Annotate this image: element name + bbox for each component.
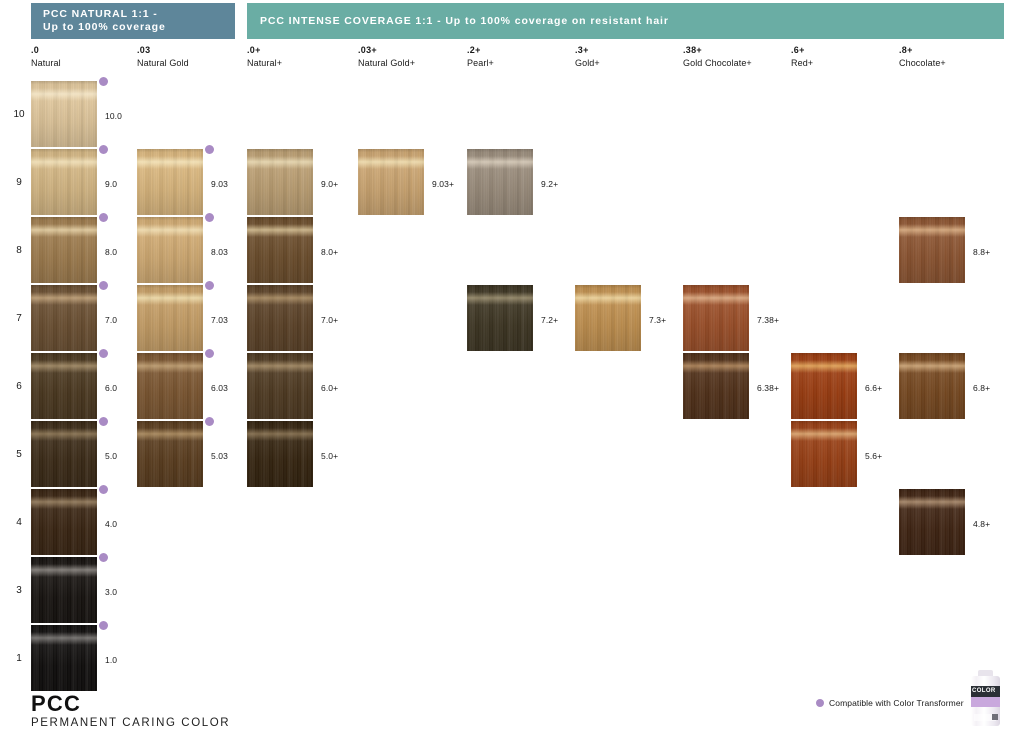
swatch-label: 6.0+ bbox=[321, 383, 338, 393]
swatch-vertical-shading bbox=[247, 217, 313, 283]
swatch-vertical-shading bbox=[247, 285, 313, 351]
swatch-label: 7.2+ bbox=[541, 315, 558, 325]
hair-swatch-8-8-[interactable] bbox=[899, 217, 965, 283]
column-name: Red+ bbox=[791, 57, 813, 69]
column-name: Pearl+ bbox=[467, 57, 494, 69]
swatch-label: 7.38+ bbox=[757, 315, 779, 325]
swatch-label: 7.0 bbox=[105, 315, 117, 325]
column-header-03: .03+Natural Gold+ bbox=[358, 45, 415, 69]
swatch-vertical-shading bbox=[137, 149, 203, 215]
legend-color-transformer: Compatible with Color Transformer bbox=[816, 698, 964, 708]
hair-swatch-7-2-[interactable] bbox=[467, 285, 533, 351]
swatch-label: 8.03 bbox=[211, 247, 228, 257]
swatch-vertical-shading bbox=[31, 489, 97, 555]
swatch-label: 9.0+ bbox=[321, 179, 338, 189]
swatch-label: 7.0+ bbox=[321, 315, 338, 325]
swatch-vertical-shading bbox=[467, 149, 533, 215]
bottle-barcode-square bbox=[992, 714, 998, 720]
swatch-vertical-shading bbox=[683, 285, 749, 351]
column-name: Gold+ bbox=[575, 57, 600, 69]
column-code: .3+ bbox=[575, 45, 600, 56]
color-transformer-dot-icon bbox=[205, 417, 214, 426]
legend-dot-icon bbox=[816, 699, 824, 707]
color-transformer-dot-icon bbox=[99, 485, 108, 494]
swatch-label: 5.6+ bbox=[865, 451, 882, 461]
swatch-vertical-shading bbox=[467, 285, 533, 351]
section-header-natural-title: PCC NATURAL 1:1 - Up to 100% coverage bbox=[43, 8, 166, 34]
swatch-label: 6.8+ bbox=[973, 383, 990, 393]
brand-fullname: PERMANENT CARING COLOR bbox=[31, 716, 230, 730]
swatch-label: 9.03 bbox=[211, 179, 228, 189]
row-level-1: 1 bbox=[10, 653, 28, 664]
column-name: Natural+ bbox=[247, 57, 282, 69]
swatch-label: 4.0 bbox=[105, 519, 117, 529]
swatch-vertical-shading bbox=[137, 353, 203, 419]
swatch-vertical-shading bbox=[683, 353, 749, 419]
column-name: Chocolate+ bbox=[899, 57, 946, 69]
hair-swatch-9-0-[interactable] bbox=[247, 149, 313, 215]
swatch-vertical-shading bbox=[247, 149, 313, 215]
column-name: Natural bbox=[31, 57, 61, 69]
hair-swatch-8-03[interactable] bbox=[137, 217, 203, 283]
hair-swatch-1-0[interactable] bbox=[31, 625, 97, 691]
hair-swatch-6-03[interactable] bbox=[137, 353, 203, 419]
color-transformer-dot-icon bbox=[99, 553, 108, 562]
swatch-label: 6.03 bbox=[211, 383, 228, 393]
swatch-label: 9.0 bbox=[105, 179, 117, 189]
swatch-label: 7.3+ bbox=[649, 315, 666, 325]
column-code: .8+ bbox=[899, 45, 946, 56]
swatch-vertical-shading bbox=[31, 217, 97, 283]
swatch-vertical-shading bbox=[899, 353, 965, 419]
column-header-0: .0Natural bbox=[31, 45, 61, 69]
color-transformer-dot-icon bbox=[205, 145, 214, 154]
hair-swatch-5-0[interactable] bbox=[31, 421, 97, 487]
swatch-vertical-shading bbox=[791, 421, 857, 487]
color-transformer-dot-icon bbox=[99, 281, 108, 290]
section-header-intense-title: PCC INTENSE COVERAGE 1:1 - Up to 100% co… bbox=[260, 15, 669, 28]
swatch-label: 3.0 bbox=[105, 587, 117, 597]
swatch-vertical-shading bbox=[31, 149, 97, 215]
hair-swatch-7-03[interactable] bbox=[137, 285, 203, 351]
hair-swatch-5-03[interactable] bbox=[137, 421, 203, 487]
hair-swatch-7-0-[interactable] bbox=[247, 285, 313, 351]
swatch-vertical-shading bbox=[31, 285, 97, 351]
swatch-vertical-shading bbox=[31, 353, 97, 419]
hair-swatch-7-3-[interactable] bbox=[575, 285, 641, 351]
hair-swatch-4-0[interactable] bbox=[31, 489, 97, 555]
row-level-10: 10 bbox=[10, 109, 28, 120]
swatch-label: 9.2+ bbox=[541, 179, 558, 189]
column-name: Gold Chocolate+ bbox=[683, 57, 752, 69]
color-transformer-dot-icon bbox=[99, 213, 108, 222]
hair-swatch-6-0-[interactable] bbox=[247, 353, 313, 419]
hair-swatch-3-0[interactable] bbox=[31, 557, 97, 623]
swatch-vertical-shading bbox=[791, 353, 857, 419]
row-level-3: 3 bbox=[10, 585, 28, 596]
swatch-vertical-shading bbox=[31, 421, 97, 487]
swatch-label: 10.0 bbox=[105, 111, 122, 121]
swatch-vertical-shading bbox=[899, 217, 965, 283]
color-transformer-dot-icon bbox=[99, 417, 108, 426]
column-header-0: .0+Natural+ bbox=[247, 45, 282, 69]
swatch-vertical-shading bbox=[358, 149, 424, 215]
column-name: Natural Gold+ bbox=[358, 57, 415, 69]
hair-swatch-7-0[interactable] bbox=[31, 285, 97, 351]
column-code: .03 bbox=[137, 45, 189, 56]
row-level-7: 7 bbox=[10, 313, 28, 324]
swatch-label: 8.0 bbox=[105, 247, 117, 257]
hair-swatch-9-03-[interactable] bbox=[358, 149, 424, 215]
color-transformer-dot-icon bbox=[99, 77, 108, 86]
swatch-vertical-shading bbox=[31, 557, 97, 623]
swatch-label: 8.0+ bbox=[321, 247, 338, 257]
column-header-8: .8+Chocolate+ bbox=[899, 45, 946, 69]
hair-swatch-9-03[interactable] bbox=[137, 149, 203, 215]
color-transformer-dot-icon bbox=[205, 213, 214, 222]
swatch-label: 6.0 bbox=[105, 383, 117, 393]
column-code: .38+ bbox=[683, 45, 752, 56]
column-header-3: .3+Gold+ bbox=[575, 45, 600, 69]
hair-swatch-6-6-[interactable] bbox=[791, 353, 857, 419]
color-transformer-dot-icon bbox=[99, 349, 108, 358]
swatch-vertical-shading bbox=[31, 81, 97, 147]
column-code: .03+ bbox=[358, 45, 415, 56]
legend-label: Compatible with Color Transformer bbox=[829, 698, 964, 708]
swatch-label: 6.38+ bbox=[757, 383, 779, 393]
swatch-vertical-shading bbox=[247, 353, 313, 419]
hair-swatch-8-0[interactable] bbox=[31, 217, 97, 283]
row-level-6: 6 bbox=[10, 381, 28, 392]
swatch-label: 5.0 bbox=[105, 451, 117, 461]
column-code: .2+ bbox=[467, 45, 494, 56]
column-code: .6+ bbox=[791, 45, 813, 56]
hair-swatch-5-6-[interactable] bbox=[791, 421, 857, 487]
column-code: .0+ bbox=[247, 45, 282, 56]
swatch-vertical-shading bbox=[575, 285, 641, 351]
hair-swatch-4-8-[interactable] bbox=[899, 489, 965, 555]
bottle-label-purple bbox=[971, 697, 1000, 707]
swatch-vertical-shading bbox=[137, 285, 203, 351]
swatch-label: 5.0+ bbox=[321, 451, 338, 461]
hair-swatch-8-0-[interactable] bbox=[247, 217, 313, 283]
hair-swatch-5-0-[interactable] bbox=[247, 421, 313, 487]
row-level-5: 5 bbox=[10, 449, 28, 460]
swatch-vertical-shading bbox=[137, 217, 203, 283]
column-code: .0 bbox=[31, 45, 61, 56]
section-header-intense: PCC INTENSE COVERAGE 1:1 - Up to 100% co… bbox=[247, 3, 1004, 39]
color-transformer-dot-icon bbox=[205, 281, 214, 290]
bottle-label-text: COLOR bbox=[972, 687, 999, 696]
column-header-38: .38+Gold Chocolate+ bbox=[683, 45, 752, 69]
hair-swatch-7-38-[interactable] bbox=[683, 285, 749, 351]
swatch-label: 6.6+ bbox=[865, 383, 882, 393]
swatch-label: 1.0 bbox=[105, 655, 117, 665]
swatch-label: 5.03 bbox=[211, 451, 228, 461]
hair-swatch-6-38-[interactable] bbox=[683, 353, 749, 419]
hair-swatch-9-2-[interactable] bbox=[467, 149, 533, 215]
row-level-8: 8 bbox=[10, 245, 28, 256]
hair-swatch-9-0[interactable] bbox=[31, 149, 97, 215]
color-transformer-bottle-image: COLOR bbox=[969, 670, 1002, 726]
color-transformer-dot-icon bbox=[205, 349, 214, 358]
hair-swatch-6-8-[interactable] bbox=[899, 353, 965, 419]
column-header-03: .03Natural Gold bbox=[137, 45, 189, 69]
hair-swatch-6-0[interactable] bbox=[31, 353, 97, 419]
brand-logo: PCC PERMANENT CARING COLOR bbox=[31, 692, 230, 730]
swatch-label: 8.8+ bbox=[973, 247, 990, 257]
color-transformer-dot-icon bbox=[99, 145, 108, 154]
column-header-2: .2+Pearl+ bbox=[467, 45, 494, 69]
hair-swatch-10-0[interactable] bbox=[31, 81, 97, 147]
column-name: Natural Gold bbox=[137, 57, 189, 69]
swatch-vertical-shading bbox=[31, 625, 97, 691]
column-header-6: .6+Red+ bbox=[791, 45, 813, 69]
row-level-4: 4 bbox=[10, 517, 28, 528]
swatch-vertical-shading bbox=[899, 489, 965, 555]
swatch-vertical-shading bbox=[247, 421, 313, 487]
color-transformer-dot-icon bbox=[99, 621, 108, 630]
swatch-label: 9.03+ bbox=[432, 179, 454, 189]
brand-abbreviation: PCC bbox=[31, 692, 230, 715]
row-level-9: 9 bbox=[10, 177, 28, 188]
swatch-label: 4.8+ bbox=[973, 519, 990, 529]
section-header-natural: PCC NATURAL 1:1 - Up to 100% coverage bbox=[31, 3, 235, 39]
swatch-vertical-shading bbox=[137, 421, 203, 487]
swatch-label: 7.03 bbox=[211, 315, 228, 325]
